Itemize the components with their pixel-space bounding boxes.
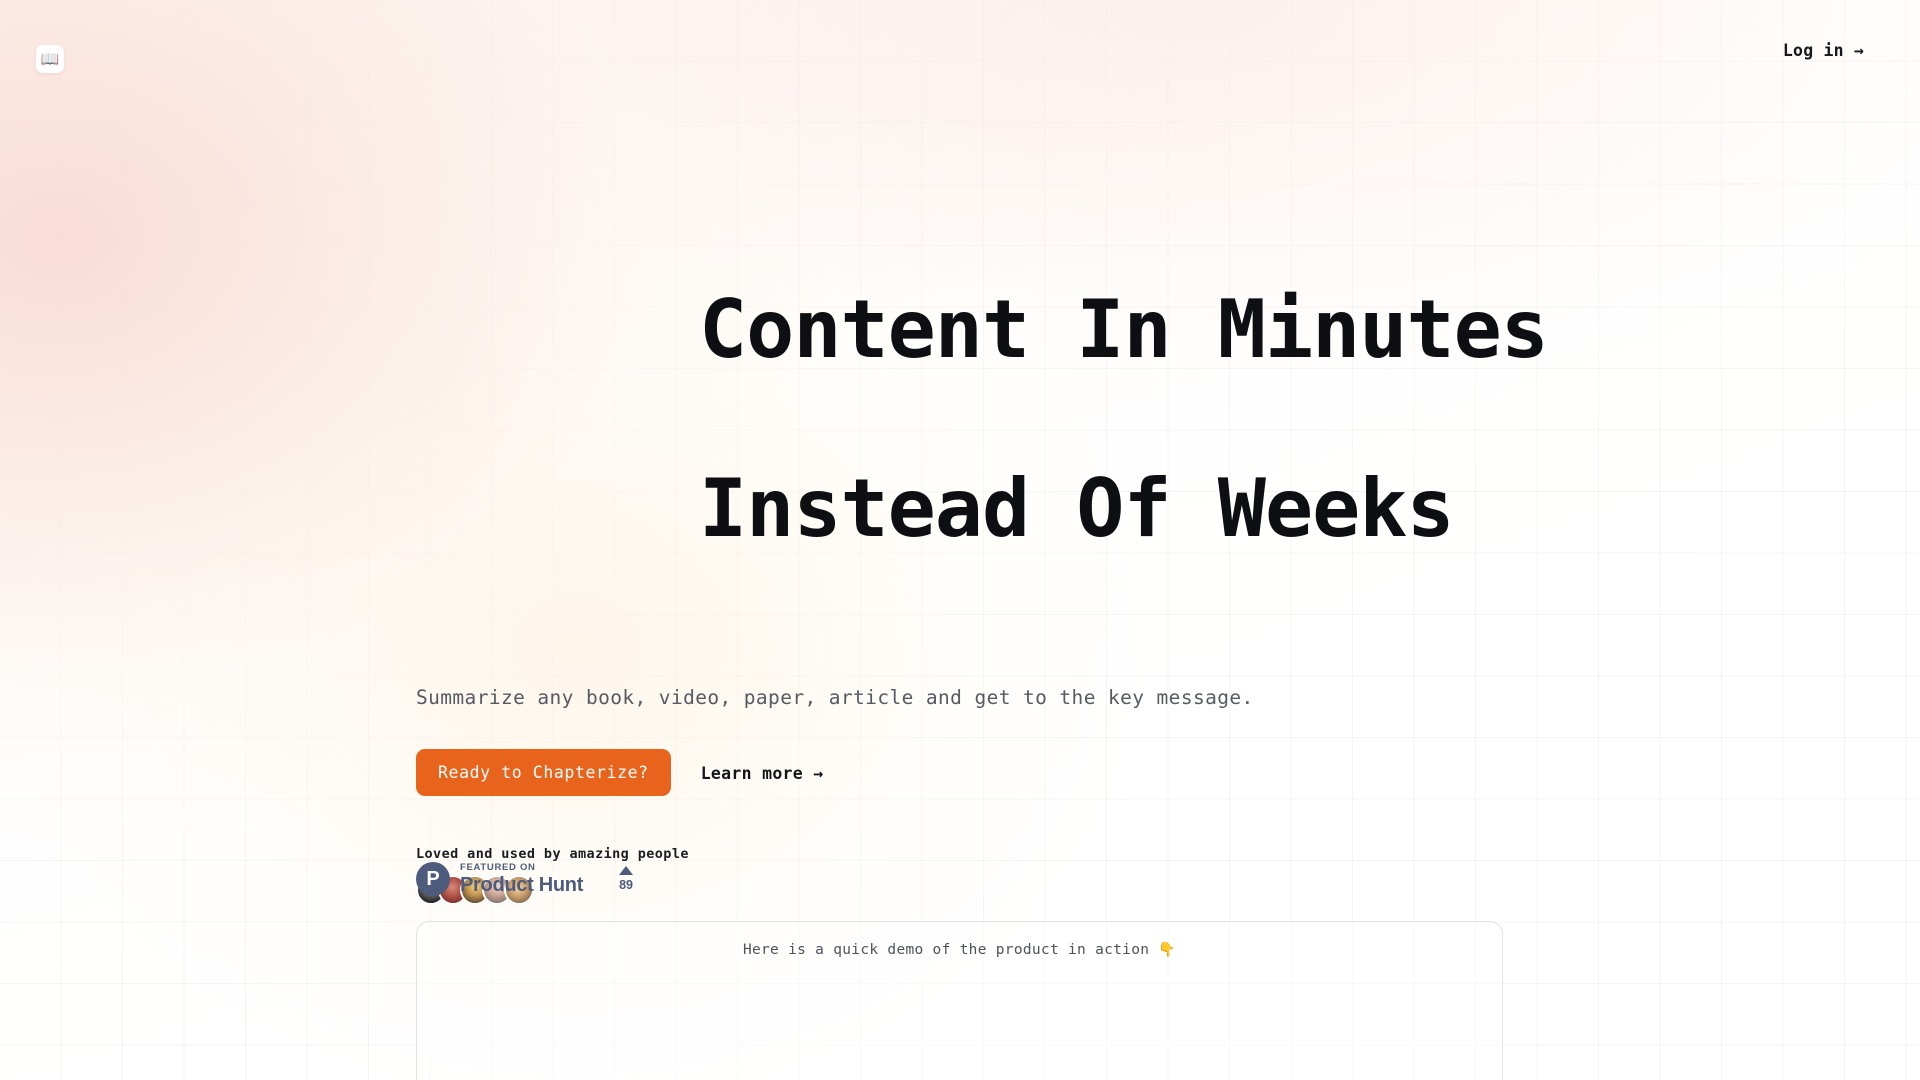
learn-more-link[interactable]: Learn more → xyxy=(701,764,824,783)
hero-subtitle: Summarize any book, video, paper, articl… xyxy=(416,686,1548,709)
site-header: 📖 Log in → xyxy=(0,0,1920,96)
caret-up-icon xyxy=(619,866,633,875)
product-hunt-upvotes: 89 xyxy=(619,866,633,892)
hero-section: Content In Minutes Instead Of Weeks Summ… xyxy=(416,196,1548,905)
product-hunt-upvote-count: 89 xyxy=(619,879,633,892)
demo-caption-text: Here is a quick demo of the product in a… xyxy=(743,942,1149,958)
demo-card: Here is a quick demo of the product in a… xyxy=(416,921,1503,1080)
pointing-down-icon: 👇 xyxy=(1158,942,1176,958)
product-hunt-name: Product Hunt xyxy=(460,875,583,895)
demo-caption: Here is a quick demo of the product in a… xyxy=(417,942,1502,958)
hero-title-line-1: Content In Minutes xyxy=(699,283,1548,376)
hero-title-line-2: Instead Of Weeks xyxy=(699,462,1454,555)
book-icon[interactable]: 📖 xyxy=(36,45,64,73)
landing-page: 📖 Log in → Content In Minutes Instead Of… xyxy=(0,0,1920,1080)
product-hunt-badge[interactable]: P FEATURED ON Product Hunt 89 xyxy=(416,862,633,896)
cta-row: Ready to Chapterize? Learn more → xyxy=(416,749,1548,796)
ready-to-chapterize-button[interactable]: Ready to Chapterize? xyxy=(416,749,671,796)
product-hunt-icon: P xyxy=(416,862,450,896)
product-hunt-eyebrow: FEATURED ON xyxy=(460,863,583,873)
product-hunt-text: FEATURED ON Product Hunt xyxy=(460,863,583,896)
social-proof-label: Loved and used by amazing people xyxy=(416,846,1548,862)
login-link[interactable]: Log in → xyxy=(1783,41,1864,60)
page-title: Content In Minutes Instead Of Weeks xyxy=(416,196,1548,642)
